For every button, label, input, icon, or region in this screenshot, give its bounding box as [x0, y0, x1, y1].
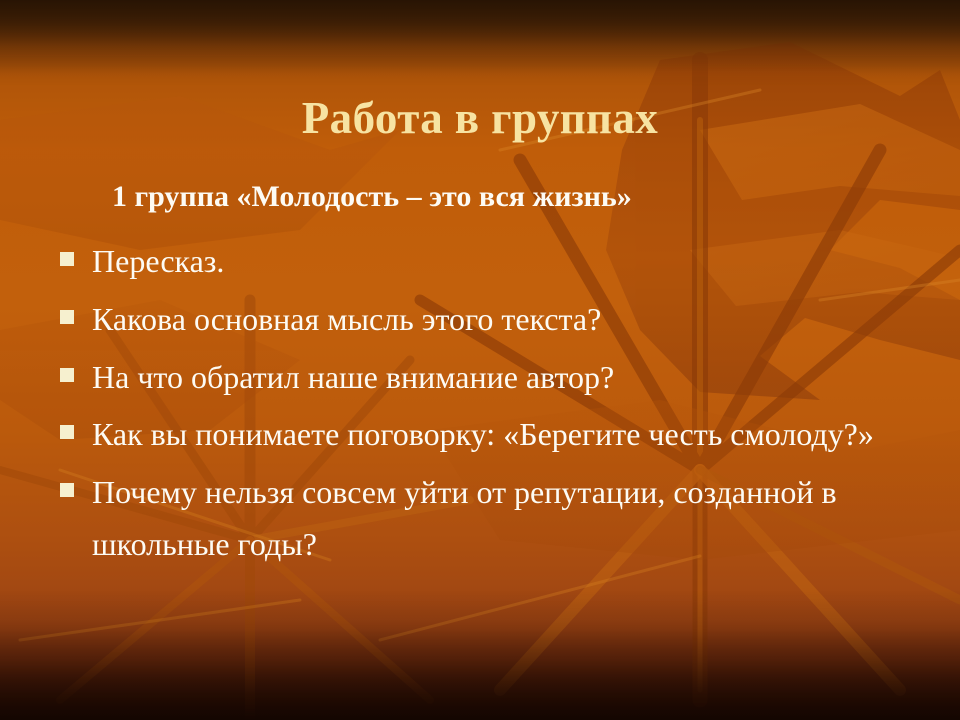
square-bullet-icon [60, 425, 74, 439]
list-item: Какова основная мысль этого текста? [60, 294, 900, 346]
square-bullet-icon [60, 310, 74, 324]
square-bullet-icon [60, 368, 74, 382]
presentation-slide: Работа в группах 1 группа «Молодость – э… [0, 0, 960, 720]
group-subtitle: 1 группа «Молодость – это вся жизнь» [112, 180, 632, 215]
list-item: Пересказ. [60, 236, 900, 288]
list-item: Как вы понимаете поговорку: «Берегите че… [60, 409, 900, 461]
slide-content: Работа в группах 1 группа «Молодость – э… [0, 0, 960, 720]
square-bullet-icon [60, 252, 74, 266]
list-item-label: Какова основная мысль этого текста? [92, 294, 900, 346]
question-list: Пересказ. Какова основная мысль этого те… [60, 236, 900, 577]
square-bullet-icon [60, 483, 74, 497]
list-item-label: На что обратил наше внимание автор? [92, 352, 900, 404]
list-item-label: Пересказ. [92, 236, 900, 288]
list-item: Почему нельзя совсем уйти от репутации, … [60, 467, 900, 571]
list-item: На что обратил наше внимание автор? [60, 352, 900, 404]
list-item-label: Почему нельзя совсем уйти от репутации, … [92, 467, 900, 571]
slide-title: Работа в группах [0, 94, 960, 143]
list-item-label: Как вы понимаете поговорку: «Берегите че… [92, 409, 900, 461]
